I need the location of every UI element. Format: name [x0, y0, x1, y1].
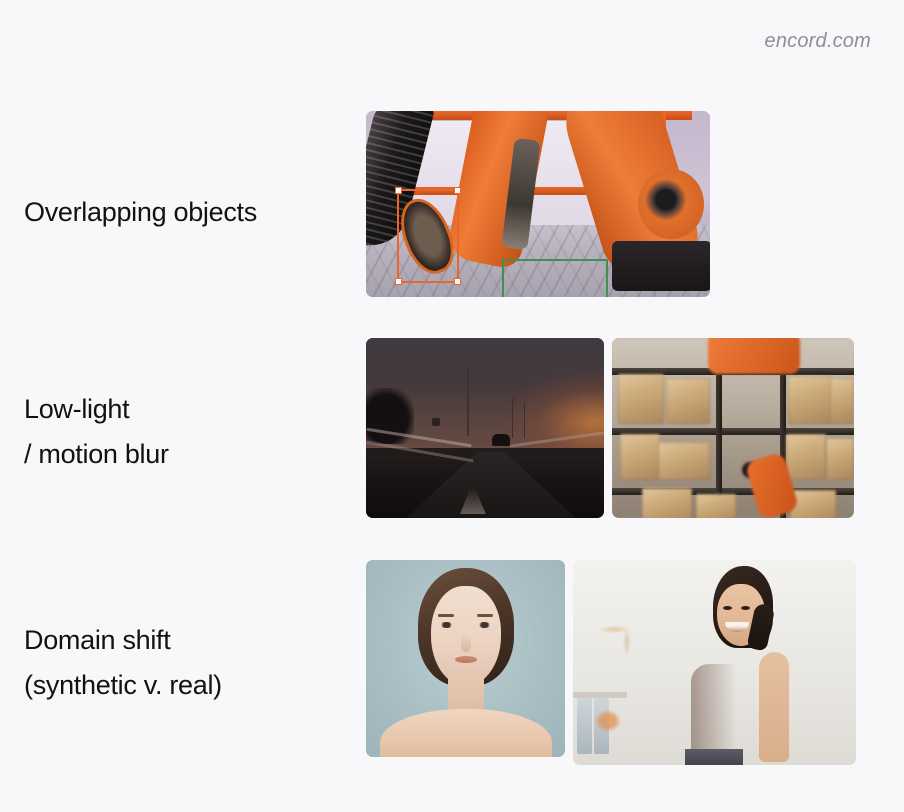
- image-warehouse-motion-blur: [612, 338, 854, 518]
- media-row-domain-shift: [366, 560, 856, 765]
- image-dark-highway: [366, 338, 604, 518]
- arm: [759, 652, 789, 762]
- cardboard-box: [826, 438, 854, 480]
- cardboard-box: [830, 378, 854, 424]
- binder: [577, 698, 592, 754]
- bbox-handle: [454, 187, 461, 194]
- street-lamp-pole: [467, 368, 469, 436]
- cardboard-box: [786, 434, 826, 480]
- cardboard-box: [658, 442, 710, 480]
- image-industrial-robot-arms: [366, 111, 710, 297]
- bbox-handle: [395, 278, 402, 285]
- eyebrow: [438, 614, 454, 617]
- eye: [440, 622, 453, 628]
- media-row-overlapping-objects: [366, 111, 710, 297]
- image-real-portrait: [573, 560, 856, 765]
- cardboard-box: [666, 378, 710, 424]
- road-sign: [432, 418, 440, 426]
- orange-flower-decor: [595, 710, 621, 732]
- row-label-domain-shift: Domain shift (synthetic v. real): [24, 618, 222, 708]
- bbox-handle: [454, 278, 461, 285]
- utility-pole: [524, 402, 525, 438]
- cardboard-box: [788, 376, 832, 424]
- cardboard-box: [642, 488, 692, 518]
- bbox-handle: [395, 187, 402, 194]
- cardboard-box: [790, 490, 836, 518]
- lips: [455, 656, 477, 663]
- distant-vehicle: [492, 434, 510, 446]
- cardboard-box: [618, 374, 664, 424]
- cardboard-box: [620, 434, 660, 480]
- bounding-box-annotation: [397, 189, 459, 283]
- bounding-box-annotation-secondary: [502, 259, 608, 297]
- media-row-low-light-motion-blur: [366, 338, 854, 518]
- eye: [741, 606, 750, 610]
- dried-plant-decor: [591, 612, 649, 670]
- watermark-encord: encord.com: [765, 30, 872, 53]
- robot-joint-motor: [638, 169, 704, 239]
- utility-pole: [512, 398, 513, 438]
- eyebrow: [477, 614, 493, 617]
- robot-base: [612, 241, 710, 291]
- jeans: [685, 749, 743, 765]
- nose: [461, 634, 471, 652]
- row-label-overlapping-objects: Overlapping objects: [24, 190, 257, 235]
- eye: [478, 622, 491, 628]
- eye: [723, 606, 732, 610]
- row-label-low-light-motion-blur: Low-light / motion blur: [24, 387, 169, 477]
- image-synthetic-portrait: [366, 560, 565, 757]
